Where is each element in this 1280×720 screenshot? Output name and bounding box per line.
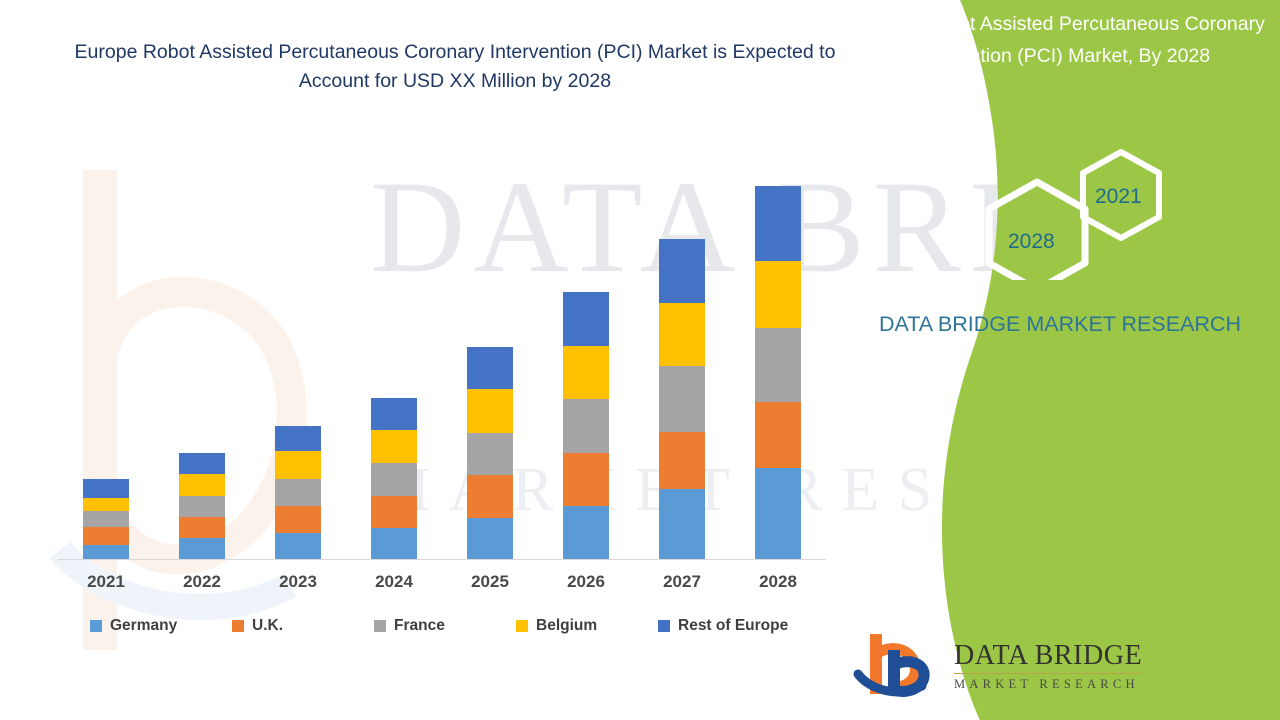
bar-segment-belgium[interactable] [179, 474, 225, 496]
bar-segment-belgium[interactable] [563, 346, 609, 399]
legend-swatch-icon [232, 620, 244, 632]
stacked-bar[interactable] [563, 292, 609, 559]
bar-segment-france[interactable] [275, 479, 321, 506]
legend-label: U.K. [252, 617, 283, 635]
stacked-bar[interactable] [83, 479, 129, 559]
bar-segment-belgium[interactable] [755, 261, 801, 328]
bar-segment-u-k[interactable] [275, 506, 321, 533]
legend-label: Belgium [536, 617, 597, 635]
x-axis-label-2024: 2024 [346, 572, 442, 592]
bar-series-container [58, 160, 826, 559]
bar-segment-germany[interactable] [659, 489, 705, 559]
logo-subtitle: MARKET RESEARCH [954, 677, 1142, 692]
x-axis-label-2023: 2023 [250, 572, 346, 592]
bar-segment-rest-of-europe[interactable] [83, 479, 129, 498]
logo-divider [954, 673, 1142, 674]
legend-swatch-icon [516, 620, 528, 632]
bar-segment-france[interactable] [179, 496, 225, 517]
bar-segment-u-k[interactable] [659, 432, 705, 489]
x-axis-label-2025: 2025 [442, 572, 538, 592]
bar-segment-germany[interactable] [371, 528, 417, 559]
bar-segment-rest-of-europe[interactable] [467, 347, 513, 389]
bar-segment-rest-of-europe[interactable] [179, 453, 225, 474]
bar-segment-germany[interactable] [755, 468, 801, 559]
bar-group-2022 [154, 160, 250, 559]
legend-swatch-icon [374, 620, 386, 632]
bar-group-2023 [250, 160, 346, 559]
x-axis-label-2028: 2028 [730, 572, 826, 592]
bar-segment-france[interactable] [659, 366, 705, 432]
bar-segment-u-k[interactable] [179, 517, 225, 538]
bar-segment-rest-of-europe[interactable] [563, 292, 609, 346]
bar-segment-germany[interactable] [179, 538, 225, 559]
bar-segment-france[interactable] [755, 328, 801, 402]
logo-text-block: DATA BRIDGE MARKET RESEARCH [954, 637, 1142, 692]
legend-label: Rest of Europe [678, 617, 788, 635]
x-axis-label-2022: 2022 [154, 572, 250, 592]
right-green-panel: Europe Robot Assisted Percutaneous Coron… [840, 0, 1280, 720]
bar-segment-rest-of-europe[interactable] [755, 186, 801, 261]
legend-item-belgium[interactable]: Belgium [516, 617, 658, 635]
legend-swatch-icon [658, 620, 670, 632]
legend-item-france[interactable]: France [374, 617, 516, 635]
stacked-bar[interactable] [755, 186, 801, 559]
bar-segment-germany[interactable] [563, 506, 609, 559]
legend-item-u-k[interactable]: U.K. [232, 617, 374, 635]
chart-legend: GermanyU.K.FranceBelgiumRest of Europe [90, 617, 800, 635]
bar-segment-germany[interactable] [467, 518, 513, 559]
data-bridge-logo-icon [852, 628, 948, 700]
bar-group-2026 [538, 160, 634, 559]
bar-segment-germany[interactable] [275, 533, 321, 559]
bar-segment-u-k[interactable] [467, 475, 513, 518]
bar-segment-belgium[interactable] [659, 303, 705, 366]
bar-segment-u-k[interactable] [371, 496, 417, 528]
bar-segment-france[interactable] [83, 511, 129, 527]
hexagon-shapes-icon [975, 140, 1185, 280]
legend-item-germany[interactable]: Germany [90, 617, 232, 635]
bar-segment-france[interactable] [467, 433, 513, 475]
bar-segment-belgium[interactable] [467, 389, 513, 433]
bar-segment-belgium[interactable] [83, 498, 129, 511]
hexagon-group: 2021 2028 [975, 140, 1185, 280]
bar-segment-france[interactable] [371, 463, 417, 496]
bar-segment-belgium[interactable] [371, 430, 417, 463]
bar-group-2027 [634, 160, 730, 559]
stacked-bar[interactable] [659, 239, 705, 559]
infographic-root: DATA BRIDGE MARKET RESEARCH Europe Robot… [0, 0, 1280, 720]
bar-segment-u-k[interactable] [83, 527, 129, 545]
x-axis-line [58, 559, 826, 560]
hexagon-label-2028: 2028 [1008, 230, 1055, 254]
x-axis-label-2021: 2021 [58, 572, 154, 592]
right-panel-title: Europe Robot Assisted Percutaneous Coron… [850, 8, 1270, 72]
brand-name-text: DATA BRIDGE MARKET RESEARCH [860, 308, 1260, 341]
bar-segment-rest-of-europe[interactable] [275, 426, 321, 451]
stacked-bar[interactable] [467, 347, 513, 559]
legend-swatch-icon [90, 620, 102, 632]
x-axis-label-2027: 2027 [634, 572, 730, 592]
bar-segment-u-k[interactable] [755, 402, 801, 468]
bar-segment-rest-of-europe[interactable] [659, 239, 705, 303]
bar-segment-rest-of-europe[interactable] [371, 398, 417, 430]
stacked-bar[interactable] [179, 453, 225, 559]
chart-title: Europe Robot Assisted Percutaneous Coron… [60, 38, 850, 96]
bar-group-2021 [58, 160, 154, 559]
bar-segment-germany[interactable] [83, 545, 129, 559]
bar-group-2024 [346, 160, 442, 559]
legend-label: Germany [110, 617, 177, 635]
legend-item-rest-of-europe[interactable]: Rest of Europe [658, 617, 800, 635]
bar-segment-u-k[interactable] [563, 453, 609, 506]
hexagon-label-2021: 2021 [1095, 185, 1142, 209]
bar-group-2028 [730, 160, 826, 559]
bar-segment-france[interactable] [563, 399, 609, 453]
x-axis-label-2026: 2026 [538, 572, 634, 592]
stacked-bar[interactable] [371, 398, 417, 559]
bar-group-2025 [442, 160, 538, 559]
stacked-bar[interactable] [275, 426, 321, 559]
x-axis-labels: 20212022202320242025202620272028 [58, 572, 826, 592]
logo-title: DATA BRIDGE [954, 641, 1142, 671]
legend-label: France [394, 617, 445, 635]
bar-segment-belgium[interactable] [275, 451, 321, 479]
brand-logo: DATA BRIDGE MARKET RESEARCH [852, 628, 1272, 700]
chart-plot-area [58, 160, 826, 560]
